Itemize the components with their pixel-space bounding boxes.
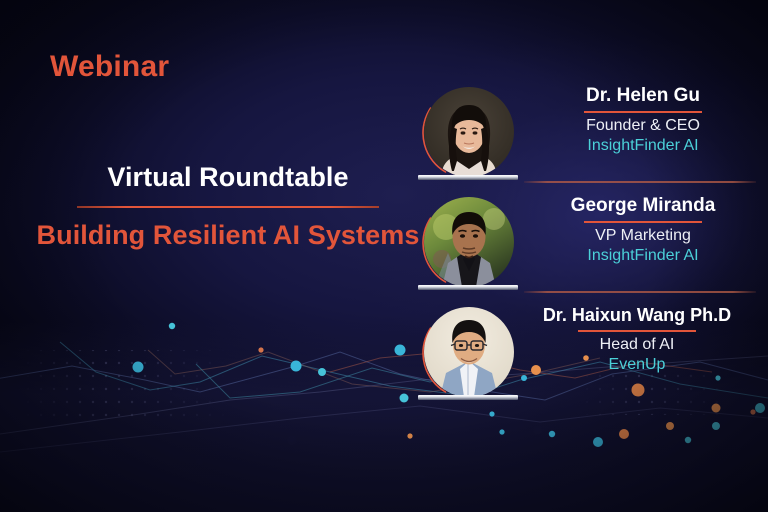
speaker-card: Dr. Haixun Wang Ph.D Head of AI EvenUp xyxy=(414,304,768,414)
speaker-name-underline xyxy=(584,221,702,223)
avatar-shelf xyxy=(418,175,518,180)
speaker-name: Dr. Haixun Wang Ph.D xyxy=(506,306,768,326)
avatar xyxy=(422,197,514,299)
speaker-name-underline xyxy=(578,330,696,332)
speaker-divider xyxy=(524,291,756,293)
speaker-info: Dr. Haixun Wang Ph.D Head of AI EvenUp xyxy=(506,306,768,375)
title-divider xyxy=(77,206,379,208)
speaker-role: Founder & CEO xyxy=(518,116,768,135)
speaker-name: George Miranda xyxy=(518,196,768,217)
avatar xyxy=(422,87,514,189)
avatar xyxy=(422,307,514,409)
portrait-george-miranda xyxy=(424,197,514,287)
portrait-haixun-wang xyxy=(424,307,514,397)
speaker-org: EvenUp xyxy=(506,355,768,375)
title-block: Virtual Roundtable Building Resilient AI… xyxy=(36,162,420,253)
speaker-list: Dr. Helen Gu Founder & CEO InsightFinder… xyxy=(414,84,768,414)
speaker-name-underline xyxy=(584,111,702,113)
speaker-info: Dr. Helen Gu Founder & CEO InsightFinder… xyxy=(518,86,768,156)
speaker-divider xyxy=(524,181,756,183)
event-kicker: Webinar xyxy=(50,50,169,84)
avatar-shelf xyxy=(418,285,518,290)
portrait-helen-gu xyxy=(424,87,514,177)
speaker-name: Dr. Helen Gu xyxy=(518,86,768,107)
speaker-org: InsightFinder AI xyxy=(518,246,768,266)
speaker-role: VP Marketing xyxy=(518,226,768,245)
webinar-promo-slide: Webinar Virtual Roundtable Building Resi… xyxy=(0,0,768,512)
speaker-card: George Miranda VP Marketing InsightFinde… xyxy=(414,194,768,304)
speaker-role: Head of AI xyxy=(506,335,768,354)
event-topic: Building Resilient AI Systems xyxy=(36,219,420,253)
speaker-card: Dr. Helen Gu Founder & CEO InsightFinder… xyxy=(414,84,768,194)
speaker-org: InsightFinder AI xyxy=(518,136,768,156)
speaker-info: George Miranda VP Marketing InsightFinde… xyxy=(518,196,768,266)
event-format: Virtual Roundtable xyxy=(36,162,420,193)
avatar-shelf xyxy=(418,395,518,400)
